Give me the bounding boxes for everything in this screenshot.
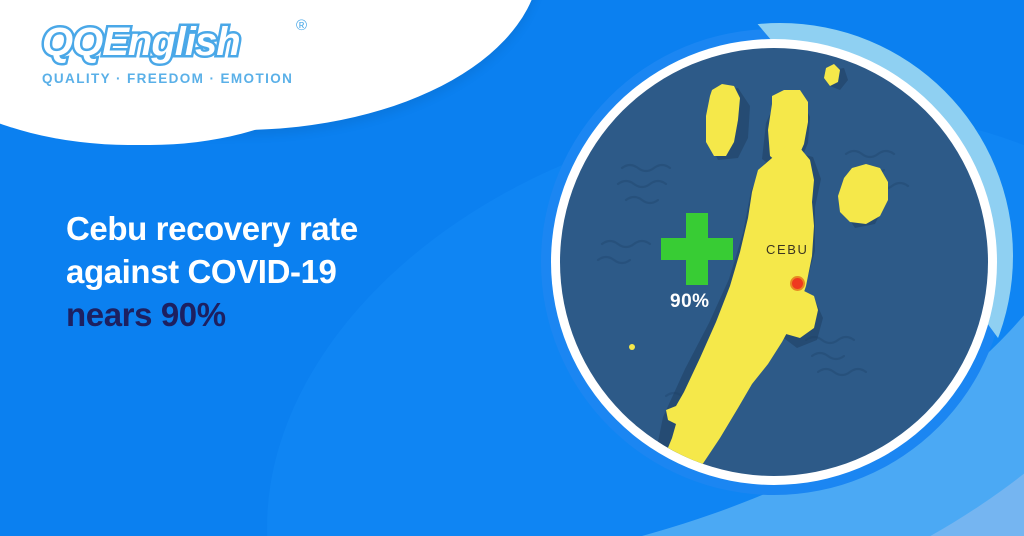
medical-plus-icon — [661, 213, 733, 285]
logo-wordmark-text: QQEnglish — [42, 20, 240, 64]
brand-logo: QQEnglish ® QUALITY · FREEDOM · EMOTION — [42, 22, 342, 86]
logo-wordmark: QQEnglish ® — [42, 22, 342, 62]
map-badge: 90% CEBU — [541, 29, 1007, 495]
map-label-cebu: CEBU — [766, 242, 809, 257]
map-graphic — [560, 48, 988, 476]
map-ocean: 90% CEBU — [560, 48, 988, 476]
headline-line-2: against COVID-19 — [66, 251, 358, 294]
poster-canvas: QQEnglish ® QUALITY · FREEDOM · EMOTION … — [0, 0, 1024, 536]
logo-tagline: QUALITY · FREEDOM · EMOTION — [42, 71, 342, 86]
location-pin-icon — [790, 276, 805, 291]
recovery-percent-label: 90% — [670, 291, 710, 313]
headline: Cebu recovery rate against COVID-19 near… — [66, 208, 358, 337]
headline-line-1: Cebu recovery rate — [66, 208, 358, 251]
registered-trademark-icon: ® — [296, 18, 306, 33]
headline-line-3: nears 90% — [66, 294, 358, 337]
island-speck-west — [629, 344, 635, 350]
island-east — [838, 164, 888, 224]
